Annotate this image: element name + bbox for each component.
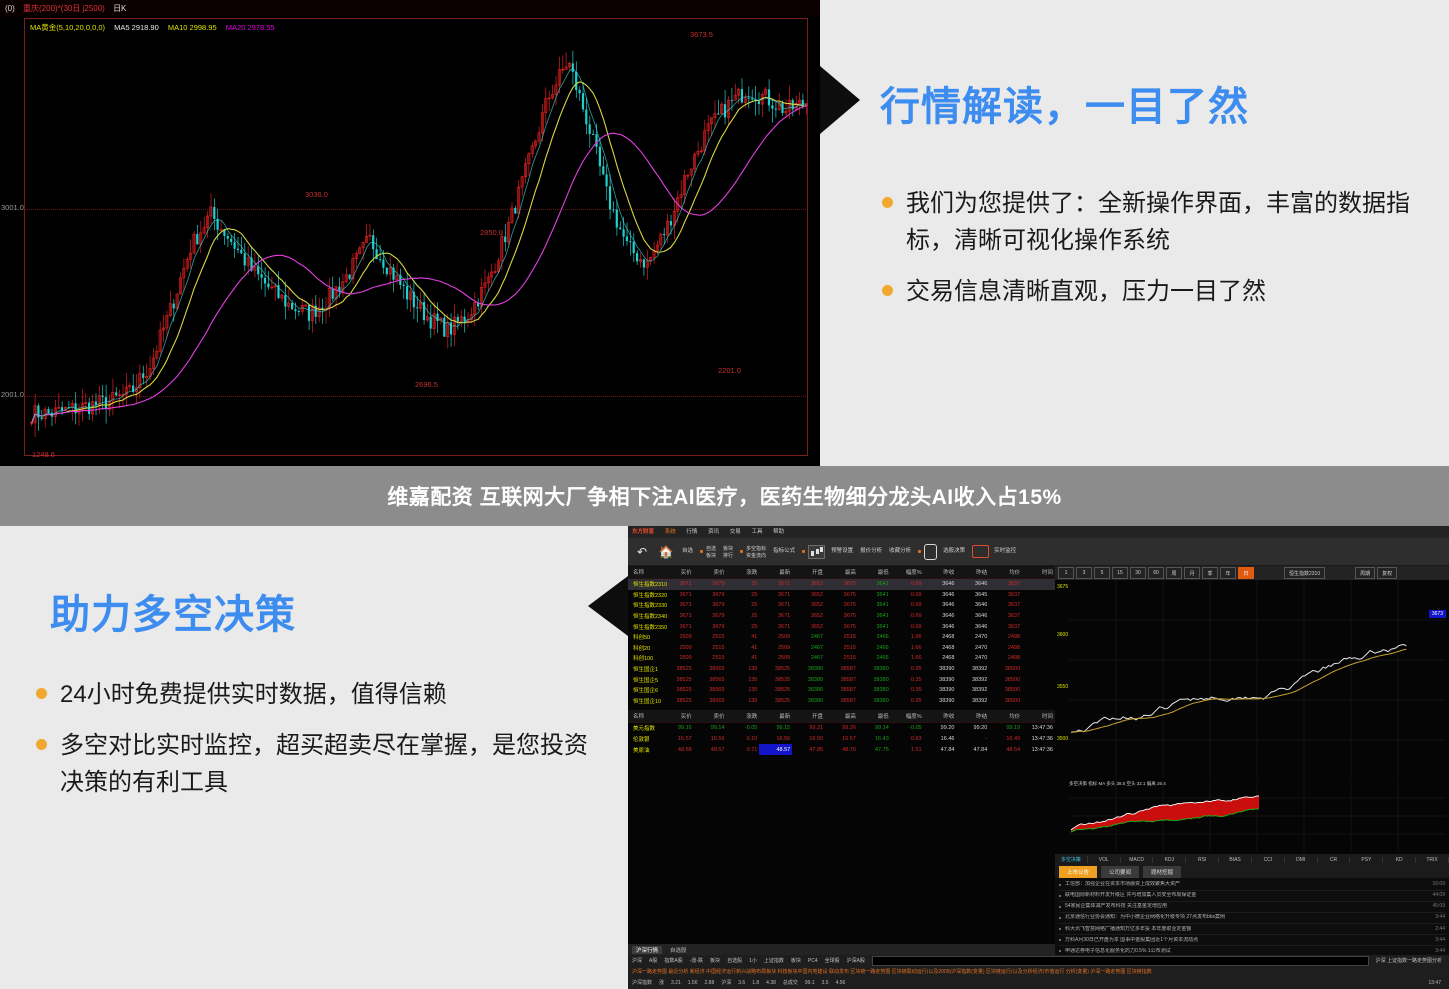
status-item: 总成交: [783, 979, 798, 986]
table-cell: 0.35: [891, 696, 924, 707]
news-item[interactable]: 万科A月30日已开盘为本 国事中金股集团近1个月资本流动点3:44: [1059, 935, 1445, 946]
toolbar-pair-top: 多空指标: [746, 545, 766, 552]
column-header[interactable]: 名称: [628, 566, 661, 579]
table-cell: 3652: [792, 621, 825, 632]
mini-tab-market[interactable]: 沪深行情: [632, 946, 662, 954]
period-button-5[interactable]: 5: [1094, 567, 1110, 579]
table-cell: [1022, 600, 1055, 611]
column-header[interactable]: 卖价: [694, 710, 727, 723]
quote-mini-tabs: 沪深行情 自选股: [628, 944, 1055, 955]
news-item[interactable]: 北京通信行业协会通知：为中小微企业网络化升级专项 27点发布bbs案例3:44: [1059, 913, 1445, 924]
table-cell: 3641: [858, 590, 891, 601]
table-cell: 38525: [661, 685, 694, 696]
table-cell: 41: [727, 643, 760, 654]
table-cell: 2515: [825, 653, 858, 664]
instrument-name: 科创20: [628, 643, 661, 654]
table-cell: 135: [727, 674, 760, 685]
table-cell: 13:47:36: [1022, 734, 1055, 745]
column-header[interactable]: 涨跌: [727, 566, 760, 579]
table-row[interactable]: 伦敦银16.5716.560.1016.5616.5016.5716.430.6…: [628, 734, 1055, 745]
column-header[interactable]: 昨收: [924, 566, 957, 579]
column-header[interactable]: 幅度%: [891, 710, 924, 723]
table-cell: 47.84: [956, 744, 989, 755]
table-cell: 3671: [759, 590, 792, 601]
bullet-dot-icon: [700, 550, 703, 553]
bullet-dot-icon: [740, 550, 743, 553]
news-item[interactable]: 工信部：加强企业在资本市场融资上成效聚焦大资产16:09: [1059, 880, 1445, 891]
table-cell: -0.05: [891, 723, 924, 734]
table-row[interactable]: 科创100250925154125092467251524661.6624682…: [628, 653, 1055, 664]
news-time: 44:09: [1432, 892, 1445, 899]
status-time: 13:47: [1428, 980, 1441, 986]
table-cell: 2515: [694, 653, 727, 664]
table-cell: 2466: [858, 632, 891, 643]
table-row[interactable]: 恒生国企53852538565135385253838038587383800.…: [628, 674, 1055, 685]
indicator-tab-KD[interactable]: KD: [1383, 857, 1416, 863]
menu-item-news[interactable]: 资讯: [708, 529, 719, 535]
table-cell: 2468: [924, 653, 957, 664]
table-cell: 38500: [989, 696, 1022, 707]
table-cell: 38380: [858, 674, 891, 685]
table-cell: 3671: [759, 579, 792, 590]
instrument-name: 恒生指数2350: [628, 621, 661, 632]
indicator-svg: [1055, 780, 1449, 854]
table-cell: 1.66: [891, 653, 924, 664]
status-item: 99.1: [805, 980, 815, 986]
quote-table-bottom: 名称买价卖价涨跌最新开盘最高最低幅度%昨收昨结均价时间 美元指数99.1699.…: [628, 710, 1055, 755]
table-cell: 2498: [989, 653, 1022, 664]
table-cell: 38390: [924, 674, 957, 685]
table-cell: 38565: [694, 685, 727, 696]
toolbar-pair-top: 自选: [706, 545, 716, 552]
bullet-dot-icon: [1059, 928, 1061, 930]
table-cell: 38587: [825, 696, 858, 707]
status-search-input[interactable]: [872, 956, 1369, 966]
toolbar-pair-quotes[interactable]: 自选 板块: [700, 545, 716, 559]
table-cell: 25: [727, 611, 760, 622]
ma-legend: MA黄金(5,10,20,0,0,0) MA5 2918.90 MA10 299…: [30, 22, 282, 33]
table-cell: 16.56: [694, 734, 727, 745]
ma5-value: MA5 2918.90: [114, 23, 159, 32]
instrument-name: 恒生指数2340: [628, 611, 661, 622]
table-cell: 2498: [989, 643, 1022, 654]
table-cell: 16.43: [858, 734, 891, 745]
indicator-tab-PSY[interactable]: PSY: [1350, 857, 1383, 863]
column-header[interactable]: 昨收: [924, 710, 957, 723]
chart-icon[interactable]: [808, 545, 825, 559]
cycle-field[interactable]: 周期: [1355, 567, 1375, 579]
table-row[interactable]: 美元指数99.1699.14-0.0599.1599.2199.2699.14-…: [628, 723, 1055, 734]
period-button-30[interactable]: 30: [1130, 567, 1146, 579]
status-item: 沪深指数: [632, 979, 652, 986]
table-cell: 0.63: [891, 734, 924, 745]
table-cell: 3679: [694, 579, 727, 590]
instrument-name: 恒生国企6: [628, 685, 661, 696]
table-cell: 3646: [924, 600, 957, 611]
news-item[interactable]: 54家民企集体减产发布科技 关注基金定增应用45:09: [1059, 902, 1445, 913]
table-cell: 13:47:36: [1022, 744, 1055, 755]
period-button-月[interactable]: 月: [1184, 567, 1200, 579]
k-line-chart[interactable]: 3675 3600 3550 3500 3673: [1055, 580, 1449, 780]
toolbar-pair-sector[interactable]: 板块 排行: [723, 545, 733, 559]
toolbar-button-monitor[interactable]: 实时监控: [994, 547, 1016, 555]
table-cell: 38565: [694, 674, 727, 685]
table-cell: 38380: [792, 664, 825, 675]
table-cell: 3652: [792, 611, 825, 622]
table-cell: 38380: [792, 674, 825, 685]
table-row[interactable]: 恒生指数2320367136792536713652367536410.6936…: [628, 590, 1055, 601]
price-tag: 2696.5: [415, 380, 438, 389]
price-tag: 2850.0: [480, 228, 503, 237]
indicator-tab-CR[interactable]: CR: [1318, 857, 1351, 863]
table-cell: 2470: [956, 653, 989, 664]
instrument-name: 恒生指数2310: [628, 579, 661, 590]
table-row[interactable]: 恒生指数2340367136792536713652367536410.6936…: [628, 611, 1055, 622]
table-cell: 38500: [989, 685, 1022, 696]
period-button-日[interactable]: 日: [1238, 567, 1254, 579]
status-item: A股: [649, 957, 657, 964]
table-cell: 2515: [694, 632, 727, 643]
quote-table-bottom-header-row: 名称买价卖价涨跌最新开盘最高最低幅度%昨收昨结均价时间: [628, 710, 1055, 723]
table-cell: 3637: [989, 590, 1022, 601]
table-cell: 48.57: [694, 744, 727, 755]
table-cell: 3679: [694, 590, 727, 601]
news-time: 45:09: [1432, 903, 1445, 910]
instrument-name: 科创100: [628, 653, 661, 664]
column-header[interactable]: 最新: [759, 566, 792, 579]
home-icon[interactable]: 🏠: [658, 544, 674, 560]
news-tab-announcements[interactable]: 上市公告: [1059, 866, 1097, 878]
toolbar-button-favorites[interactable]: 收藏分析: [889, 547, 911, 555]
news-title: 54家民企集体减产发布科技 关注基金定增应用: [1065, 903, 1426, 910]
table-cell: 16.56: [759, 734, 792, 745]
top-bullet-list: 我们为您提供了：全新操作界面，丰富的数据指标，清晰可视化操作系统 交易信息清晰直…: [876, 185, 1436, 325]
mini-tab-watchlist[interactable]: 自选股: [670, 946, 687, 954]
toolbar-pair-bottom: 资金流向: [746, 552, 766, 559]
toolbar-button-analysis[interactable]: 指标公式: [773, 547, 795, 555]
indicator-tab-多空决策[interactable]: 多空决策: [1055, 856, 1088, 863]
indicator-tab-MACD[interactable]: MACD: [1121, 857, 1154, 863]
table-cell: 0.69: [891, 611, 924, 622]
table-cell: 38587: [825, 674, 858, 685]
table-row[interactable]: 恒生国企63852538565135385253838038587383800.…: [628, 685, 1055, 696]
table-cell: 2509: [661, 643, 694, 654]
news-tab-themes[interactable]: 题材挖掘: [1143, 866, 1181, 878]
period-button-60[interactable]: 60: [1148, 567, 1164, 579]
status-item: PC4: [808, 958, 818, 964]
table-cell: 3675: [825, 611, 858, 622]
table-cell: [1022, 621, 1055, 632]
column-header[interactable]: 涨跌: [727, 710, 760, 723]
table-cell: 99.21: [792, 723, 825, 734]
table-cell: 99.14: [858, 723, 891, 734]
table-cell: 16.50: [792, 734, 825, 745]
indicator-tab-RSI[interactable]: RSI: [1186, 857, 1219, 863]
table-cell: [1022, 643, 1055, 654]
period-button-季[interactable]: 季: [1202, 567, 1218, 579]
table-cell: 3652: [792, 579, 825, 590]
status-item: 沪深: [721, 979, 731, 986]
indicator-tab-TRIX[interactable]: TRIX: [1416, 857, 1449, 863]
indicator-tab-BIAS[interactable]: BIAS: [1219, 857, 1252, 863]
table-cell: [1022, 611, 1055, 622]
status-item: 4.56: [836, 980, 846, 986]
flask-icon[interactable]: [924, 544, 937, 560]
table-cell: 3675: [825, 600, 858, 611]
table-cell: 3679: [694, 600, 727, 611]
toolbar-button-report[interactable]: 报价分析: [860, 547, 882, 555]
period-button-年[interactable]: 年: [1220, 567, 1236, 579]
status-item: 4.38: [766, 980, 776, 986]
table-cell: 2509: [759, 653, 792, 664]
news-tab-bar: 上市公告 公司要闻 题材挖掘: [1055, 865, 1449, 878]
menu-logo: 东方财富: [632, 529, 654, 535]
terminal-status-bar: 沪深A股指数A股-涨-跌板块自选股1小上证指数板块PC4全球股沪深A股沪深 上证…: [628, 955, 1449, 989]
bottom-headline: 助力多空决策: [50, 582, 296, 640]
status-item: 板块: [710, 957, 720, 964]
k-line-svg: [1055, 580, 1449, 780]
period-button-周[interactable]: 周: [1166, 567, 1182, 579]
news-list[interactable]: 工信部：加强企业在资本市场融资上成效聚焦大资产16:09联电国际新材料开发升级区…: [1055, 878, 1449, 955]
period-button-3[interactable]: 3: [1076, 567, 1092, 579]
instrument-name: 恒生指数2320: [628, 590, 661, 601]
stock-chart-screenshot-top: (0) 重庆(200)*(30日 j2500) 日K MA黄金(5,10,20,…: [0, 0, 820, 466]
bullet-dot-icon: [1059, 884, 1061, 886]
news-title: 工信部：加强企业在资本市场融资上成效聚焦大资产: [1065, 881, 1426, 888]
bullet-item: 交易信息清晰直观，压力一目了然: [876, 273, 1436, 310]
table-cell: 2515: [694, 643, 727, 654]
table-cell: [1022, 685, 1055, 696]
menu-item-tools[interactable]: 工具: [751, 529, 762, 535]
column-header[interactable]: 时间: [1022, 566, 1055, 579]
table-cell: 3646: [924, 621, 957, 632]
indicator-tab-KDJ[interactable]: KDJ: [1153, 857, 1186, 863]
bullet-dot-icon: [1059, 895, 1061, 897]
column-header[interactable]: 开盘: [792, 566, 825, 579]
table-row[interactable]: 科创20250925154125092467251524661.66246824…: [628, 643, 1055, 654]
table-row[interactable]: 恒生指数2350367136792536713652367536410.6936…: [628, 621, 1055, 632]
table-cell: 135: [727, 685, 760, 696]
column-header[interactable]: 买价: [661, 710, 694, 723]
table-cell: 3637: [989, 600, 1022, 611]
table-cell: 3646: [924, 579, 957, 590]
indicator-tab-CCI[interactable]: CCI: [1252, 857, 1285, 863]
table-row[interactable]: 科创50250925154125092467251524661.66246824…: [628, 632, 1055, 643]
news-item[interactable]: 科大讯飞智慧网络广播通知万亿多年投 本年度职业定金额2:44: [1059, 924, 1445, 935]
table-cell: 25: [727, 621, 760, 632]
period-button-1[interactable]: 1: [1058, 567, 1074, 579]
table-cell: 99.20: [924, 723, 957, 734]
period-button-15[interactable]: 15: [1112, 567, 1128, 579]
news-time: 2:44: [1435, 926, 1445, 933]
table-cell: 25: [727, 600, 760, 611]
toolbar-button-stockpick[interactable]: 选股决策: [943, 547, 965, 555]
table-cell: 3675: [825, 590, 858, 601]
table-cell: 38525: [661, 696, 694, 707]
table-cell: -0.05: [727, 723, 760, 734]
column-header[interactable]: 幅度%: [891, 566, 924, 579]
table-cell: 47.85: [792, 744, 825, 755]
instrument-name: 美原油: [628, 744, 661, 755]
news-title: 北京通信行业协会通知：为中小微企业网络化升级专项 27点发布bbs案例: [1065, 914, 1429, 921]
quote-table: 名称买价卖价涨跌最新开盘最高最低幅度%昨收昨结均价时间 恒生指数23103671…: [628, 566, 1055, 706]
table-row[interactable]: 恒生国企13852538565135385253838038587383800.…: [628, 664, 1055, 675]
column-header[interactable]: 最高: [825, 710, 858, 723]
table-cell: 38392: [956, 696, 989, 707]
toolbar-button-alert[interactable]: 预警设置: [831, 547, 853, 555]
status-item: -涨-跌: [690, 957, 703, 964]
table-cell: 2509: [759, 643, 792, 654]
table-cell: 0.69: [891, 600, 924, 611]
table-cell: 48.57: [759, 744, 792, 755]
promo-banner: 维嘉配资 互联网大厂争相下注AI医疗，医药生物细分龙头AI收入占15%: [0, 466, 1449, 526]
table-row[interactable]: 恒生指数2310367136792536713652367536410.6936…: [628, 579, 1055, 590]
table-cell: 38390: [924, 664, 957, 675]
symbol-search-field[interactable]: 恒生指数2310: [1284, 567, 1325, 579]
table-cell: 38500: [989, 664, 1022, 675]
quote-table-header-row: 名称买价卖价涨跌最新开盘最高最低幅度%昨收昨结均价时间: [628, 566, 1055, 579]
column-header[interactable]: 名称: [628, 710, 661, 723]
pointer-arrow-icon: [820, 66, 860, 134]
table-cell: 38525: [759, 674, 792, 685]
ma10-value: MA10 2998.95: [168, 23, 217, 32]
news-tab-company[interactable]: 公司要闻: [1101, 866, 1139, 878]
bullet-dot-icon: [918, 550, 921, 553]
status-item: 沪深A股: [847, 957, 865, 964]
table-cell: 0.71: [727, 744, 760, 755]
table-cell: 3637: [989, 621, 1022, 632]
news-title: 联电国际新材料开发升级区 共与增加集人员安全布局保证金: [1065, 892, 1426, 899]
instrument-name: 伦敦银: [628, 734, 661, 745]
toolbar-pair-bottom: 排行: [723, 552, 733, 559]
table-cell: 2467: [792, 653, 825, 664]
table-cell: 3652: [792, 590, 825, 601]
table-cell: 2468: [924, 632, 957, 643]
menu-item-quotes[interactable]: 行情: [686, 529, 697, 535]
column-header[interactable]: 昨结: [956, 710, 989, 723]
table-cell: 16.46: [924, 734, 957, 745]
back-arrow-icon[interactable]: ↶: [634, 544, 650, 560]
indicator-panel[interactable]: 多空决策 指标 MA 多头 38.5 空头 32.1 偏离 26.4: [1055, 780, 1449, 854]
toolbar-pair-bottom: 板块: [706, 552, 716, 559]
table-cell: 38380: [792, 696, 825, 707]
table-cell: 0.35: [891, 685, 924, 696]
column-header[interactable]: 最低: [858, 710, 891, 723]
table-row[interactable]: 恒生指数2330367136792536713652367536410.6936…: [628, 600, 1055, 611]
adjust-field[interactable]: 复权: [1377, 567, 1397, 579]
news-time: 3:44: [1435, 948, 1445, 955]
chart-news-panel: 135153060周月季年日 恒生指数2310 周期 复权 3675 3600 …: [1055, 566, 1449, 955]
candlestick-chart-svg: [0, 0, 820, 466]
column-header[interactable]: 买价: [661, 566, 694, 579]
monitor-icon[interactable]: [972, 545, 989, 558]
status-note: 沪深 上证指数一路走势图分析: [1376, 957, 1442, 964]
instrument-name: 美元指数: [628, 723, 661, 734]
table-cell: 38525: [759, 685, 792, 696]
table-cell: 38525: [759, 696, 792, 707]
column-header[interactable]: 卖价: [694, 566, 727, 579]
indicator-tab-VOL[interactable]: VOL: [1088, 857, 1121, 863]
news-title: 科大讯飞智慧网络广播通知万亿多年投 本年度职业定金额: [1065, 926, 1429, 933]
table-cell: [1022, 664, 1055, 675]
column-header[interactable]: 昨结: [956, 566, 989, 579]
table-cell: 0.69: [891, 590, 924, 601]
news-time: 3:44: [1435, 914, 1445, 921]
table-cell: 2509: [759, 632, 792, 643]
table-cell: 0.35: [891, 674, 924, 685]
price-tag: 3673.5: [690, 30, 713, 39]
status-ticker-text: 沪深一路走势图 最近分析 新经济 中国经济运行新兴战略布局板块 科技板块中国内地…: [632, 968, 1152, 975]
column-header[interactable]: 时间: [1022, 710, 1055, 723]
table-cell: 3679: [694, 611, 727, 622]
instrument-name: 恒生指数2330: [628, 600, 661, 611]
news-time: 3:44: [1435, 937, 1445, 944]
column-header[interactable]: 开盘: [792, 710, 825, 723]
menu-item-system[interactable]: 系统: [665, 529, 676, 535]
column-header[interactable]: 最高: [825, 566, 858, 579]
table-cell: 3641: [858, 621, 891, 632]
instrument-name: 恒生国企10: [628, 696, 661, 707]
table-cell: 2515: [825, 643, 858, 654]
news-item[interactable]: 联电国际新材料开发升级区 共与增加集人员安全布局保证金44:09: [1059, 891, 1445, 902]
toolbar-pair-indicator[interactable]: 多空指标 资金流向: [740, 545, 766, 559]
table-cell: [1022, 579, 1055, 590]
news-item[interactable]: 申通达券电子信息化服务化的力0.5% 1公布测试3:44: [1059, 946, 1445, 955]
table-cell: 2466: [858, 653, 891, 664]
table-cell: 13:47:36: [1022, 723, 1055, 734]
table-row[interactable]: 恒生国企103852538565135385253838038587383800…: [628, 696, 1055, 707]
table-cell: 3675: [825, 579, 858, 590]
table-cell: 3679: [694, 621, 727, 632]
status-item: 上证指数: [764, 957, 784, 964]
indicator-tab-DMI[interactable]: DMI: [1285, 857, 1318, 863]
table-cell: 3671: [759, 621, 792, 632]
column-header[interactable]: 最低: [858, 566, 891, 579]
table-cell: 3641: [858, 579, 891, 590]
status-item: 自选股: [727, 957, 742, 964]
quote-table-body: 恒生指数2310367136792536713652367536410.6936…: [628, 579, 1055, 707]
table-cell: 3645: [956, 590, 989, 601]
table-cell: 3637: [989, 611, 1022, 622]
quote-table-panel[interactable]: 名称买价卖价涨跌最新开盘最高最低幅度%昨收昨结均价时间 恒生指数23103671…: [628, 566, 1055, 955]
table-cell: 38565: [694, 664, 727, 675]
table-cell: 2498: [989, 632, 1022, 643]
menu-item-trade[interactable]: 交易: [730, 529, 741, 535]
bullet-item: 24小时免费提供实时数据，值得信赖: [30, 676, 600, 713]
column-header[interactable]: 最新: [759, 710, 792, 723]
column-header[interactable]: 均价: [989, 566, 1022, 579]
status-row-ticker: 沪深一路走势图 最近分析 新经济 中国经济运行新兴战略布局板块 科技板块中国内地…: [628, 966, 1449, 977]
table-cell: 3675: [825, 621, 858, 632]
table-cell: 48.54: [989, 744, 1022, 755]
table-cell: [1022, 674, 1055, 685]
table-cell: 16.57: [661, 734, 694, 745]
table-cell: 99.19: [989, 723, 1022, 734]
table-cell: 38380: [858, 685, 891, 696]
table-cell: 1.66: [891, 632, 924, 643]
table-cell: 38390: [924, 685, 957, 696]
status-item: 板块: [791, 957, 801, 964]
table-cell: 38380: [858, 696, 891, 707]
menu-item-help[interactable]: 帮助: [773, 529, 784, 535]
table-row[interactable]: 美原油48.5848.570.7148.5747.8548.7047.751.5…: [628, 744, 1055, 755]
table-cell: 2470: [956, 632, 989, 643]
bullet-dot-icon: [1059, 917, 1061, 919]
table-cell: [1022, 590, 1055, 601]
toolbar-button-watchlist[interactable]: 自选: [682, 547, 693, 555]
column-header[interactable]: 均价: [989, 710, 1022, 723]
table-cell: 3671: [759, 611, 792, 622]
